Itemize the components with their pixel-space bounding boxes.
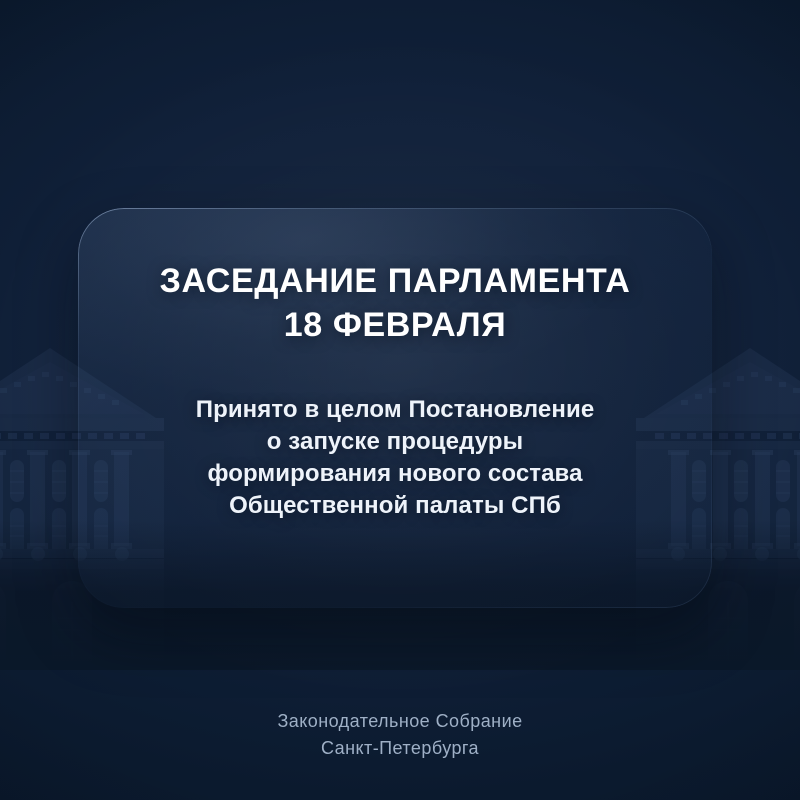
poster-canvas: ЗАСЕДАНИЕ ПАРЛАМЕНТА 18 ФЕВРАЛЯ Принято … <box>0 0 800 800</box>
body-line-4: Общественной палаты СПб <box>124 490 666 522</box>
footer-line-1: Законодательное Собрание <box>0 708 800 735</box>
body-line-1: Принято в целом Постановление <box>124 394 666 426</box>
card-content: ЗАСЕДАНИЕ ПАРЛАМЕНТА 18 ФЕВРАЛЯ Принято … <box>78 208 712 608</box>
title-line-1: ЗАСЕДАНИЕ ПАРЛАМЕНТА <box>160 262 631 300</box>
body-line-2: о запуске процедуры <box>124 426 666 458</box>
footer-line-2: Санкт-Петербурга <box>0 735 800 762</box>
title-line-2: 18 ФЕВРАЛЯ <box>104 303 686 347</box>
announcement-body: Принято в целом Постановление о запуске … <box>78 394 712 522</box>
body-line-3: формирования нового состава <box>124 458 666 490</box>
page-title: ЗАСЕДАНИЕ ПАРЛАМЕНТА 18 ФЕВРАЛЯ <box>78 259 712 347</box>
footer-attribution: Законодательное Собрание Санкт-Петербург… <box>0 708 800 762</box>
announcement-card: ЗАСЕДАНИЕ ПАРЛАМЕНТА 18 ФЕВРАЛЯ Принято … <box>78 208 712 608</box>
